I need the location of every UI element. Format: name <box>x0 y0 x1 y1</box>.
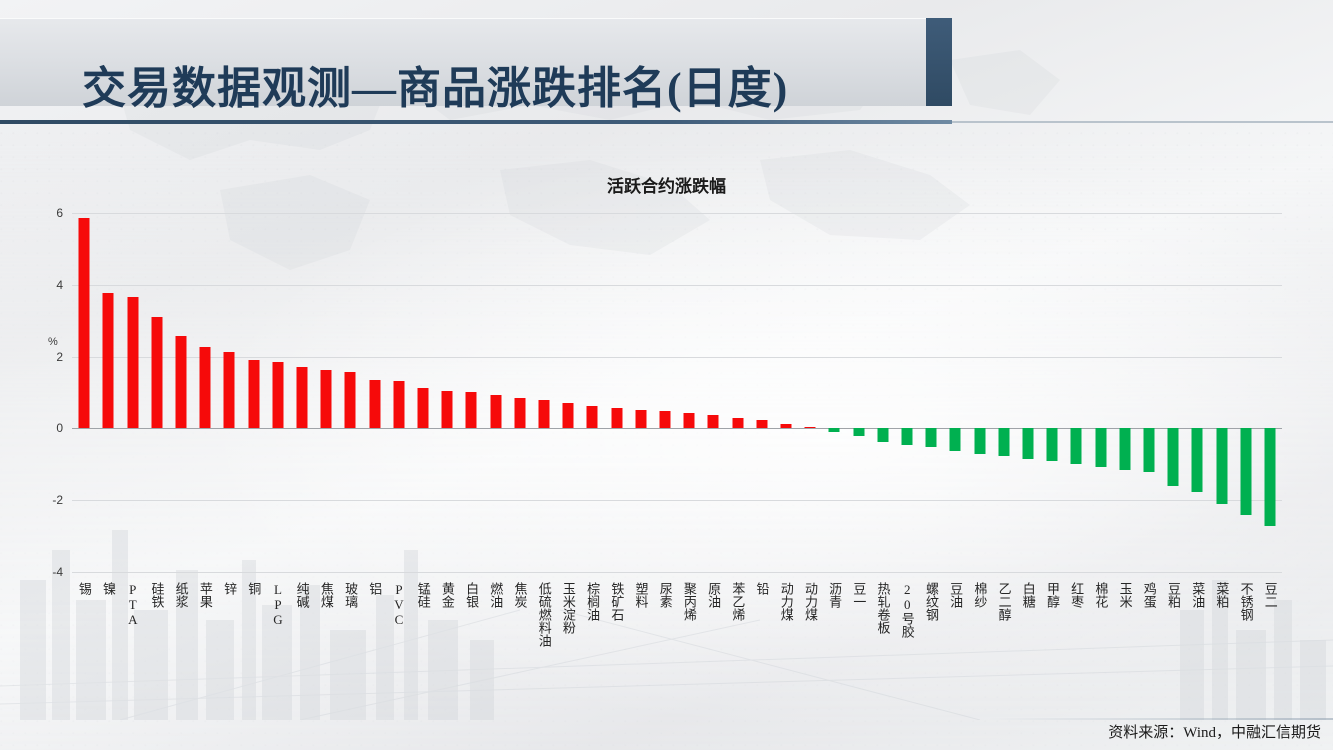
x-axis-category-text: 铝 <box>368 582 382 595</box>
footer-divider <box>988 718 1333 720</box>
bar <box>272 362 283 429</box>
bar-slot <box>411 213 435 572</box>
x-axis-category: 苯乙烯 <box>725 582 749 700</box>
bar <box>345 372 356 429</box>
x-axis-category: 不锈钢 <box>1234 582 1258 700</box>
bar <box>1144 428 1155 472</box>
bar-slot <box>798 213 822 572</box>
x-axis-category: LPG <box>266 582 290 700</box>
x-axis-category: 燃油 <box>483 582 507 700</box>
x-axis-category: 尿素 <box>653 582 677 700</box>
y-axis-tick-label: 2 <box>56 350 63 364</box>
x-axis-category: 铁矿石 <box>604 582 628 700</box>
bar <box>659 411 670 428</box>
bar <box>708 415 719 429</box>
x-axis-category-labels: 锡镍PTA硅铁纸浆苹果锌铜LPG纯碱焦煤玻璃铝PVC锰硅黄金白银燃油焦炭低硫燃料… <box>72 582 1282 700</box>
bar-slot <box>677 213 701 572</box>
x-axis-category: 玻璃 <box>338 582 362 700</box>
x-axis-category-text: PTA <box>126 582 140 627</box>
bar <box>1192 428 1203 492</box>
bar <box>417 388 428 428</box>
x-axis-category: 20号胶 <box>895 582 919 700</box>
x-axis-category: 白银 <box>459 582 483 700</box>
x-axis-category: 菜粕 <box>1210 582 1234 700</box>
bar-slot <box>96 213 120 572</box>
bar-slot <box>241 213 265 572</box>
x-axis-category-text: 苯乙烯 <box>731 582 745 621</box>
x-axis-category: 铝 <box>362 582 386 700</box>
bar <box>490 395 501 428</box>
bar-slot <box>822 213 846 572</box>
x-axis-category: 棉纱 <box>968 582 992 700</box>
x-axis-category: 白糖 <box>1016 582 1040 700</box>
x-axis-category-text: 白糖 <box>1021 582 1035 608</box>
bar-slot <box>435 213 459 572</box>
x-axis-category-text: 铅 <box>755 582 769 595</box>
x-axis-category-text: 铁矿石 <box>610 582 624 621</box>
bar-slot <box>483 213 507 572</box>
y-axis-unit-label: % <box>48 336 58 348</box>
x-axis-category-text: 塑料 <box>634 582 648 608</box>
bar <box>1240 428 1251 515</box>
x-axis-category-text: 鸡蛋 <box>1142 582 1156 608</box>
x-axis-category-text: LPG <box>271 582 285 627</box>
x-axis-category: 低硫燃料油 <box>532 582 556 700</box>
bar <box>248 360 259 428</box>
x-axis-category: 热轧卷板 <box>871 582 895 700</box>
x-axis-category: 菜油 <box>1185 582 1209 700</box>
y-axis-tick-label: 4 <box>56 278 63 292</box>
x-axis-category-text: 菜油 <box>1191 582 1205 608</box>
x-axis-category-text: 锡 <box>77 582 91 595</box>
bar-slot <box>290 213 314 572</box>
x-axis-category-text: 棕榈油 <box>586 582 600 621</box>
bar <box>103 293 114 429</box>
x-axis-category: 沥青 <box>822 582 846 700</box>
bar-slot <box>653 213 677 572</box>
x-axis-category: 纸浆 <box>169 582 193 700</box>
source-note: 资料来源：Wind，中融汇信期货 <box>1108 721 1321 742</box>
bar <box>466 392 477 429</box>
x-axis-category: 乙二醇 <box>992 582 1016 700</box>
x-axis-category-text: 锰硅 <box>416 582 430 608</box>
bar-slot <box>1113 213 1137 572</box>
bar-slot <box>871 213 895 572</box>
x-axis-category: PTA <box>120 582 144 700</box>
x-axis-category-text: 豆一 <box>852 582 866 608</box>
bar <box>974 428 985 453</box>
x-axis-category: 硅铁 <box>145 582 169 700</box>
x-axis-category: 螺纹钢 <box>919 582 943 700</box>
bar <box>611 408 622 429</box>
y-axis-tick-label: -2 <box>52 493 63 507</box>
bar-slot <box>847 213 871 572</box>
bar <box>950 428 961 450</box>
x-axis-category-text: 焦煤 <box>319 582 333 608</box>
bar-slot <box>750 213 774 572</box>
bar <box>998 428 1009 456</box>
bar <box>296 367 307 428</box>
bar-slot <box>1234 213 1258 572</box>
x-axis-category-text: 尿素 <box>658 582 672 608</box>
bar-slot <box>169 213 193 572</box>
bar <box>829 428 840 432</box>
bar-slot <box>701 213 725 572</box>
bar-slot <box>72 213 96 572</box>
bar-series <box>72 213 1282 572</box>
x-axis-category: 黄金 <box>435 582 459 700</box>
chart-area: 活跃合约涨跌幅 % 6420-2-4 锡镍PTA硅铁纸浆苹果锌铜LPG纯碱焦煤玻… <box>0 150 1333 680</box>
x-axis-category: 棕榈油 <box>580 582 604 700</box>
bar <box>780 424 791 428</box>
bar <box>442 391 453 429</box>
y-axis-tick-label: 6 <box>56 206 63 220</box>
x-axis-category-text: 豆粕 <box>1166 582 1180 608</box>
x-axis-category-text: 纸浆 <box>174 582 188 608</box>
bar-slot <box>1210 213 1234 572</box>
bar-slot <box>508 213 532 572</box>
x-axis-category-text: 聚丙烯 <box>682 582 696 621</box>
bar-slot <box>774 213 798 572</box>
bar <box>1119 428 1130 470</box>
x-axis-category-text: 焦炭 <box>513 582 527 608</box>
x-axis-category: 红枣 <box>1064 582 1088 700</box>
bar-slot <box>992 213 1016 572</box>
plot-area: 6420-2-4 <box>72 213 1282 572</box>
bar-slot <box>1185 213 1209 572</box>
bar <box>79 218 90 428</box>
x-axis-category: 苹果 <box>193 582 217 700</box>
bar-slot <box>120 213 144 572</box>
x-axis-category: 铜 <box>241 582 265 700</box>
bar <box>756 420 767 429</box>
x-axis-category-text: 动力煤 <box>803 582 817 621</box>
bar-slot <box>580 213 604 572</box>
bar-slot <box>1137 213 1161 572</box>
x-axis-category-text: 不锈钢 <box>1239 582 1253 621</box>
title-underline <box>0 120 952 124</box>
chart-title: 活跃合约涨跌幅 <box>0 172 1333 197</box>
bar <box>369 380 380 428</box>
x-axis-category-text: 低硫燃料油 <box>537 582 551 647</box>
x-axis-category: 纯碱 <box>290 582 314 700</box>
bar <box>1047 428 1058 461</box>
bar-slot <box>193 213 217 572</box>
gridline <box>72 572 1282 573</box>
bar-slot <box>919 213 943 572</box>
x-axis-category-text: 豆油 <box>949 582 963 608</box>
x-axis-category-text: 甲醇 <box>1045 582 1059 608</box>
x-axis-category: 玉米淀粉 <box>556 582 580 700</box>
bar <box>151 317 162 428</box>
x-axis-category-text: 红枣 <box>1070 582 1084 608</box>
bar <box>538 400 549 429</box>
bar-slot <box>629 213 653 572</box>
bar-slot <box>895 213 919 572</box>
x-axis-category: 原油 <box>701 582 725 700</box>
bar-slot <box>266 213 290 572</box>
bar <box>393 381 404 428</box>
x-axis-category: 锰硅 <box>411 582 435 700</box>
x-axis-category-text: 乙二醇 <box>997 582 1011 621</box>
x-axis-category-text: PVC <box>392 582 406 627</box>
x-axis-category: PVC <box>387 582 411 700</box>
x-axis-category-text: 苹果 <box>198 582 212 608</box>
bar-slot <box>1016 213 1040 572</box>
x-axis-category: 镍 <box>96 582 120 700</box>
bar <box>902 428 913 445</box>
x-axis-category: 豆粕 <box>1161 582 1185 700</box>
bar <box>127 297 138 428</box>
page-title: 交易数据观测—商品涨跌排名(日度) <box>82 52 788 116</box>
bar <box>1265 428 1276 526</box>
bar-slot <box>362 213 386 572</box>
y-axis-tick-label: 0 <box>56 421 63 435</box>
bar <box>877 428 888 442</box>
bar <box>805 427 816 428</box>
bar-slot <box>968 213 992 572</box>
x-axis-category-text: 玉米淀粉 <box>561 582 575 634</box>
x-axis-category: 焦煤 <box>314 582 338 700</box>
x-axis-category-text: 玉米 <box>1118 582 1132 608</box>
x-axis-category: 豆油 <box>943 582 967 700</box>
x-axis-category: 玉米 <box>1113 582 1137 700</box>
x-axis-category-text: 沥青 <box>828 582 842 608</box>
bar-slot <box>604 213 628 572</box>
x-axis-category-text: 硅铁 <box>150 582 164 608</box>
bar <box>224 352 235 428</box>
x-axis-category-text: 豆二 <box>1263 582 1277 608</box>
x-axis-category-text: 燃油 <box>489 582 503 608</box>
bar <box>514 398 525 429</box>
bar-slot <box>1040 213 1064 572</box>
x-axis-category-text: 棉纱 <box>973 582 987 608</box>
bar-slot <box>943 213 967 572</box>
bar-slot <box>338 213 362 572</box>
x-axis-category-text: 棉花 <box>1094 582 1108 608</box>
bar <box>732 418 743 429</box>
bar <box>1216 428 1227 503</box>
x-axis-category-text: 20号胶 <box>900 582 914 638</box>
slide-background: 交易数据观测—商品涨跌排名(日度) 活跃合约涨跌幅 % 6420-2-4 锡镍P… <box>0 0 1333 750</box>
bar <box>684 413 695 428</box>
bar <box>1095 428 1106 467</box>
x-axis-category-text: 铜 <box>247 582 261 595</box>
bar <box>175 336 186 429</box>
x-axis-category: 动力煤 <box>774 582 798 700</box>
bar <box>321 370 332 428</box>
bar-slot <box>556 213 580 572</box>
bar-slot <box>145 213 169 572</box>
bar-slot <box>1161 213 1185 572</box>
x-axis-category: 铅 <box>750 582 774 700</box>
x-axis-category: 塑料 <box>629 582 653 700</box>
bar-slot <box>459 213 483 572</box>
x-axis-category-text: 白银 <box>465 582 479 608</box>
x-axis-category-text: 热轧卷板 <box>876 582 890 634</box>
x-axis-category-text: 镍 <box>102 582 116 595</box>
bar <box>635 410 646 429</box>
x-axis-category: 聚丙烯 <box>677 582 701 700</box>
x-axis-category: 甲醇 <box>1040 582 1064 700</box>
bar <box>563 403 574 429</box>
x-axis-category-text: 玻璃 <box>344 582 358 608</box>
x-axis-category: 锡 <box>72 582 96 700</box>
x-axis-category: 鸡蛋 <box>1137 582 1161 700</box>
bar-slot <box>725 213 749 572</box>
x-axis-category-text: 螺纹钢 <box>924 582 938 621</box>
x-axis-category: 豆一 <box>847 582 871 700</box>
x-axis-category-text: 动力煤 <box>779 582 793 621</box>
bar-slot <box>532 213 556 572</box>
x-axis-category: 动力煤 <box>798 582 822 700</box>
bar-slot <box>217 213 241 572</box>
x-axis-category: 焦炭 <box>508 582 532 700</box>
bar-slot <box>1089 213 1113 572</box>
x-axis-category-text: 黄金 <box>440 582 454 608</box>
x-axis-category: 豆二 <box>1258 582 1282 700</box>
bar-slot <box>314 213 338 572</box>
x-axis-category-text: 纯碱 <box>295 582 309 608</box>
bar <box>200 347 211 428</box>
x-axis-category: 锌 <box>217 582 241 700</box>
bar <box>587 406 598 428</box>
bar <box>1071 428 1082 464</box>
x-axis-category-text: 锌 <box>223 582 237 595</box>
bar-slot <box>1064 213 1088 572</box>
bar <box>853 428 864 435</box>
bar <box>926 428 937 447</box>
x-axis-category-text: 菜粕 <box>1215 582 1229 608</box>
slide-title-bar: 交易数据观测—商品涨跌排名(日度) <box>0 18 952 106</box>
y-axis-tick-label: -4 <box>52 565 63 579</box>
x-axis-category-text: 原油 <box>707 582 721 608</box>
bar <box>1023 428 1034 459</box>
x-axis-category: 棉花 <box>1089 582 1113 700</box>
bar-slot <box>387 213 411 572</box>
bar-slot <box>1258 213 1282 572</box>
bar <box>1168 428 1179 485</box>
